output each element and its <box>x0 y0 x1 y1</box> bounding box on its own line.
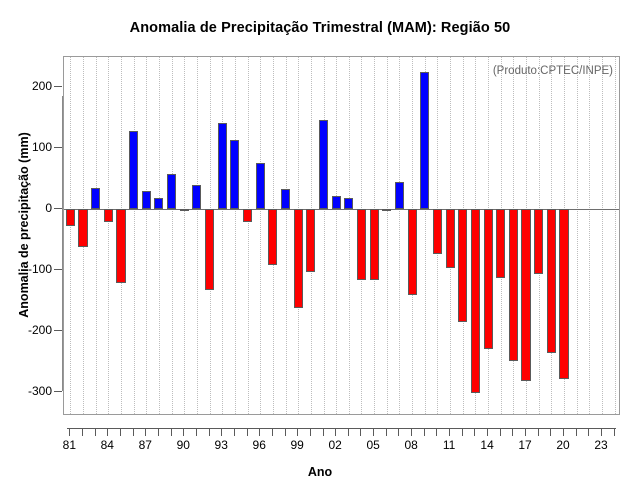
x-tick-mark <box>614 428 615 436</box>
gridline-vertical <box>134 57 135 414</box>
x-tick-mark <box>462 428 463 436</box>
x-tick-mark <box>348 428 349 436</box>
gridline-vertical <box>70 57 71 414</box>
bar <box>458 209 467 322</box>
gridline-vertical <box>387 57 388 414</box>
bar <box>319 120 328 209</box>
y-tick-label: -300 <box>6 384 52 398</box>
y-tick-mark <box>54 330 62 331</box>
x-tick-mark <box>500 428 501 436</box>
gridline-vertical <box>399 57 400 414</box>
y-tick-label: -100 <box>6 262 52 276</box>
bar <box>332 196 341 209</box>
y-tick-label: 0 <box>6 201 52 215</box>
page-title: Anomalia de Precipitação Trimestral (MAM… <box>0 20 640 36</box>
x-tick-mark <box>221 428 222 436</box>
y-tick-label: 100 <box>6 140 52 154</box>
bar <box>180 209 189 211</box>
bar <box>256 163 265 209</box>
bar <box>534 209 543 274</box>
bar <box>243 209 252 222</box>
x-tick-mark <box>310 428 311 436</box>
bar <box>433 209 442 254</box>
x-tick-label: 96 <box>239 438 279 452</box>
x-tick-mark <box>196 428 197 436</box>
x-tick-mark <box>436 428 437 436</box>
x-tick-mark <box>234 428 235 436</box>
x-tick-mark <box>323 428 324 436</box>
x-tick-mark <box>145 428 146 436</box>
x-tick-mark <box>588 428 589 436</box>
bar <box>496 209 505 278</box>
x-tick-mark <box>259 428 260 436</box>
gridline-vertical <box>286 57 287 414</box>
bar <box>116 209 125 283</box>
bar <box>344 198 353 210</box>
bar <box>104 209 113 222</box>
x-tick-mark <box>487 428 488 436</box>
bar <box>66 209 75 226</box>
x-tick-mark <box>171 428 172 436</box>
x-tick-label: 05 <box>353 438 393 452</box>
gridline-vertical <box>602 57 603 414</box>
x-tick-mark <box>411 428 412 436</box>
bar <box>192 185 201 209</box>
x-tick-mark <box>82 428 83 436</box>
bar <box>484 209 493 349</box>
bar <box>268 209 277 265</box>
bar <box>521 209 530 381</box>
gridline-vertical <box>96 57 97 414</box>
x-tick-label: 93 <box>201 438 241 452</box>
x-tick-mark <box>449 428 450 436</box>
x-tick-mark <box>373 428 374 436</box>
gridline-vertical <box>184 57 185 414</box>
gridline-vertical <box>336 57 337 414</box>
bar <box>167 174 176 209</box>
bar <box>559 209 568 379</box>
x-tick-label: 81 <box>49 438 89 452</box>
bar <box>446 209 455 268</box>
x-tick-label: 23 <box>581 438 621 452</box>
bar <box>509 209 518 361</box>
gridline-vertical <box>577 57 578 414</box>
y-tick-mark <box>54 208 62 209</box>
x-tick-mark <box>512 428 513 436</box>
gridline-vertical <box>349 57 350 414</box>
x-tick-label: 90 <box>163 438 203 452</box>
x-tick-mark <box>285 428 286 436</box>
x-tick-label: 84 <box>87 438 127 452</box>
y-tick-mark <box>54 147 62 148</box>
x-tick-label: 02 <box>315 438 355 452</box>
x-tick-mark <box>538 428 539 436</box>
x-tick-mark <box>272 428 273 436</box>
bar <box>471 209 480 393</box>
bar <box>370 209 379 280</box>
x-tick-mark <box>601 428 602 436</box>
x-tick-label: 08 <box>391 438 431 452</box>
x-tick-label: 14 <box>467 438 507 452</box>
bar <box>78 209 87 247</box>
x-tick-mark <box>183 428 184 436</box>
gridline-vertical <box>146 57 147 414</box>
gridline-vertical <box>248 57 249 414</box>
x-tick-mark <box>69 428 70 436</box>
gridline-vertical <box>235 57 236 414</box>
x-tick-mark <box>576 428 577 436</box>
bar <box>395 182 404 209</box>
bar <box>91 188 100 209</box>
bar <box>205 209 214 290</box>
x-tick-mark <box>107 428 108 436</box>
x-tick-mark <box>398 428 399 436</box>
x-axis-spine <box>67 428 615 429</box>
gridline-vertical <box>222 57 223 414</box>
source-annotation: (Produto:CPTEC/INPE) <box>493 65 613 77</box>
bar <box>129 131 138 209</box>
x-tick-label: 17 <box>505 438 545 452</box>
gridline-vertical <box>589 57 590 414</box>
x-tick-mark <box>158 428 159 436</box>
gridline-vertical <box>260 57 261 414</box>
bar <box>382 209 391 211</box>
bar <box>154 198 163 209</box>
bar <box>420 72 429 209</box>
bar <box>230 140 239 209</box>
gridline-vertical <box>197 57 198 414</box>
x-tick-mark <box>335 428 336 436</box>
bar <box>357 209 366 280</box>
gridline-vertical <box>172 57 173 414</box>
bar <box>218 123 227 209</box>
x-tick-mark <box>95 428 96 436</box>
x-tick-mark <box>386 428 387 436</box>
gridline-vertical <box>108 57 109 414</box>
bar <box>142 191 151 209</box>
y-tick-mark <box>54 269 62 270</box>
x-tick-mark <box>297 428 298 436</box>
x-tick-mark <box>247 428 248 436</box>
x-tick-mark <box>120 428 121 436</box>
precipitation-anomaly-chart: Anomalia de Precipitação Trimestral (MAM… <box>0 0 640 500</box>
gridline-vertical <box>615 57 616 414</box>
x-tick-label: 99 <box>277 438 317 452</box>
bar <box>281 189 290 209</box>
x-axis-label: Ano <box>0 465 640 479</box>
plot-area: (Produto:CPTEC/INPE) <box>63 56 620 415</box>
x-tick-label: 11 <box>429 438 469 452</box>
y-tick-label: -200 <box>6 323 52 337</box>
x-tick-mark <box>563 428 564 436</box>
y-tick-mark <box>54 391 62 392</box>
x-tick-mark <box>133 428 134 436</box>
x-tick-mark <box>525 428 526 436</box>
bar <box>408 209 417 295</box>
x-tick-mark <box>550 428 551 436</box>
bar <box>294 209 303 308</box>
x-tick-mark <box>424 428 425 436</box>
x-tick-mark <box>474 428 475 436</box>
x-tick-mark <box>360 428 361 436</box>
bar <box>306 209 315 272</box>
x-tick-label: 87 <box>125 438 165 452</box>
y-tick-mark <box>54 86 62 87</box>
bar <box>547 209 556 353</box>
gridline-vertical <box>159 57 160 414</box>
gridline-vertical <box>324 57 325 414</box>
x-tick-label: 20 <box>543 438 583 452</box>
x-tick-mark <box>209 428 210 436</box>
y-tick-label: 200 <box>6 79 52 93</box>
